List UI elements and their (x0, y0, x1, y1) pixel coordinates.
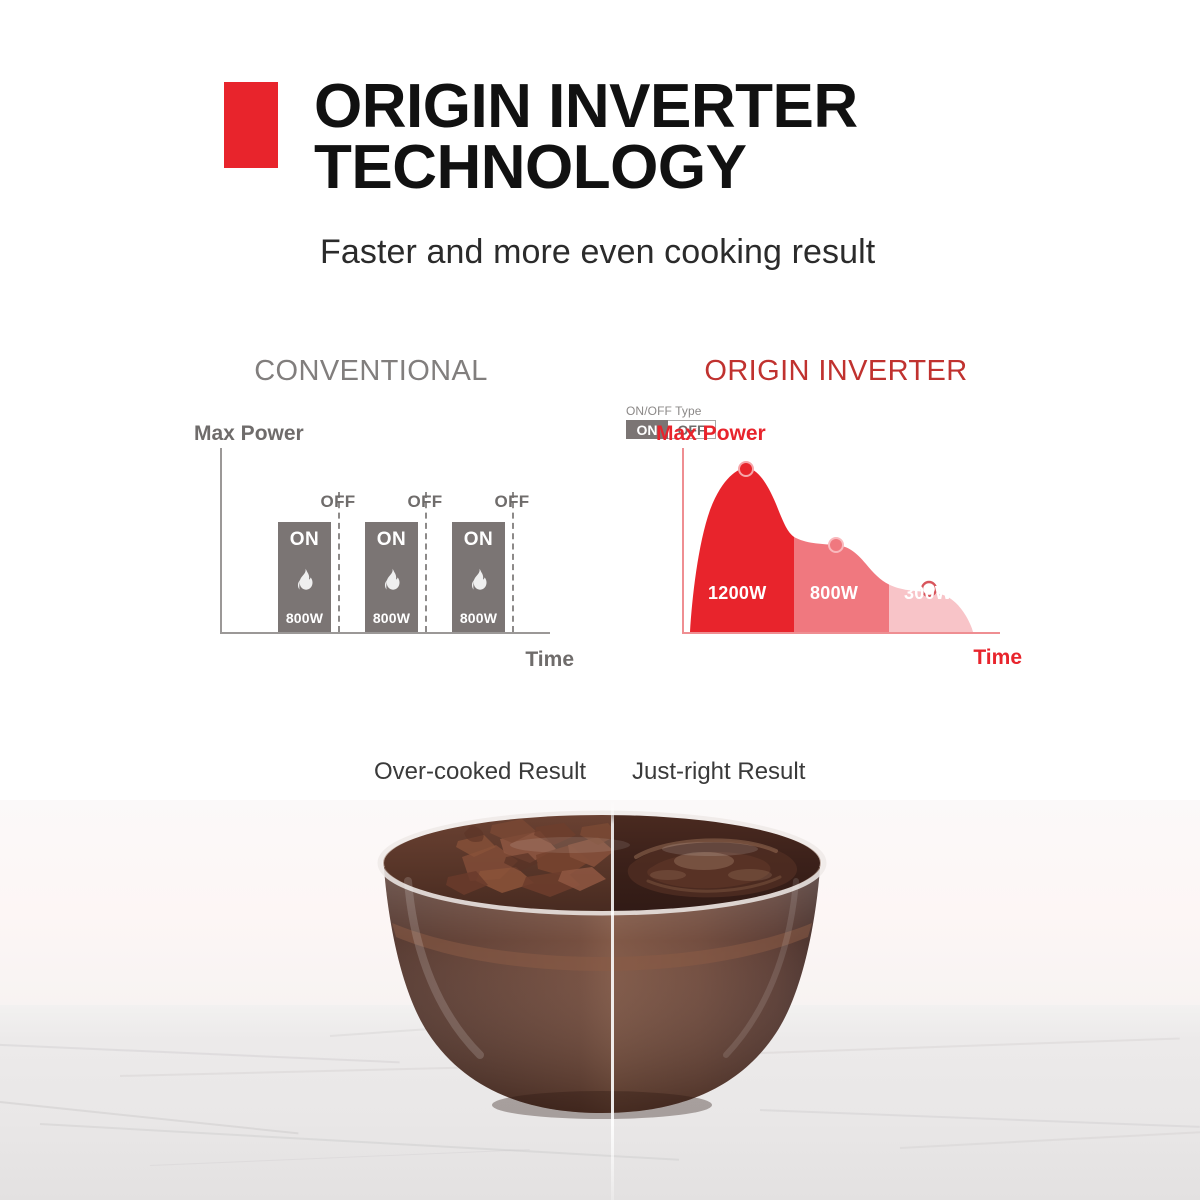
off-tick-3 (512, 492, 514, 632)
accent-block (224, 82, 278, 168)
inverter-power-curve (684, 448, 998, 632)
off-tick-1 (338, 492, 340, 632)
off-label-3: OFF (495, 492, 530, 512)
conventional-axes: OFF OFF OFF ON 800W (220, 448, 550, 634)
flame-icon (294, 568, 316, 594)
result-label-overcooked: Over-cooked Result (374, 758, 586, 786)
inverter-x-axis-label: Time (973, 646, 1022, 670)
title-line-2: TECHNOLOGY (314, 137, 1074, 198)
flame-icon (381, 568, 403, 594)
on-block-state-1: ON (290, 529, 320, 551)
result-label-justright: Just-right Result (632, 758, 805, 786)
on-block-power-2: 800W (373, 610, 410, 626)
inverter-panel: ORIGIN INVERTER Max Power Time (640, 355, 1040, 676)
on-block-state-2: ON (377, 529, 407, 551)
inverter-plot: Max Power Time (640, 426, 1040, 676)
conventional-y-axis-label: Max Power (194, 422, 304, 446)
marker-800w (829, 538, 843, 552)
title-line-1: ORIGIN INVERTER (314, 76, 1074, 137)
inverter-heading: ORIGIN INVERTER (666, 355, 1006, 388)
on-block-power-1: 800W (286, 610, 323, 626)
off-label-1: OFF (321, 492, 356, 512)
comparison-charts: CONVENTIONAL Max Power Time ON/OFF Type … (0, 355, 1200, 715)
result-labels: Over-cooked Result Just-right Result (0, 758, 1200, 798)
comparison-divider (611, 800, 614, 1200)
marker-1200w (739, 462, 753, 476)
zone-label-800w: 800W (810, 583, 858, 604)
overcooked-chocolate-texture (446, 819, 618, 897)
zone-label-1200w: 1200W (708, 583, 767, 604)
on-block-state-3: ON (464, 529, 494, 551)
on-block-3: ON 800W (452, 522, 505, 632)
inverter-y-axis-label: Max Power (656, 422, 766, 446)
off-label-2: OFF (408, 492, 443, 512)
comparison-photo (0, 800, 1200, 1200)
conventional-heading: CONVENTIONAL (186, 355, 556, 388)
conventional-x-axis-label: Time (525, 648, 574, 672)
off-tick-2 (425, 492, 427, 632)
conventional-panel: CONVENTIONAL Max Power Time ON/OFF Type … (180, 355, 580, 676)
page-title: ORIGIN INVERTER TECHNOLOGY (314, 76, 1074, 199)
inverter-axes: 1200W 800W 300W (682, 448, 1000, 634)
bowl-illustration (330, 805, 875, 1125)
on-block-1: ON 800W (278, 522, 331, 632)
flame-icon (468, 568, 490, 594)
zone-label-300w: 300W (904, 583, 952, 604)
infographic-stage: ORIGIN INVERTER TECHNOLOGY Faster and mo… (0, 0, 1200, 1200)
subtitle: Faster and more even cooking result (320, 233, 1100, 272)
header: ORIGIN INVERTER TECHNOLOGY Faster and mo… (0, 0, 1200, 300)
on-block-power-3: 800W (460, 610, 497, 626)
on-block-2: ON 800W (365, 522, 418, 632)
conventional-plot: Max Power Time ON/OFF Type ON OFF OFF OF… (180, 426, 580, 676)
chocolate-bowl-photo (330, 805, 875, 1125)
